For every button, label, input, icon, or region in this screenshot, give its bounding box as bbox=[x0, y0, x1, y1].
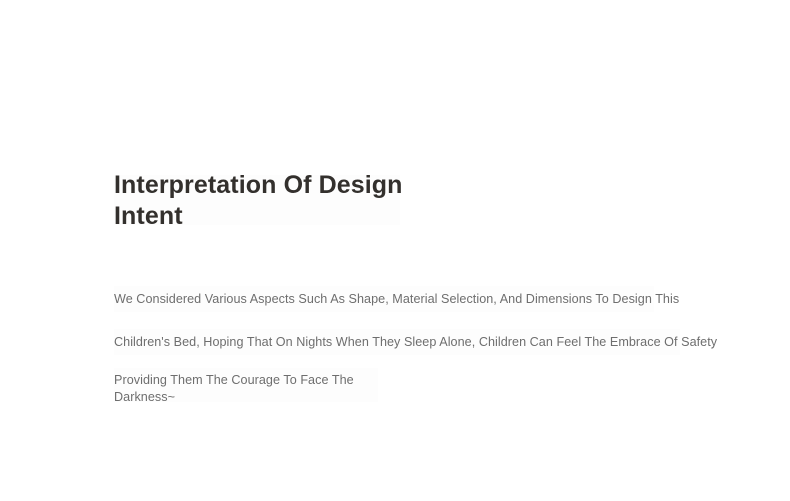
body-paragraph-2: Children's Bed, Hoping That On Nights Wh… bbox=[114, 334, 734, 351]
slide-canvas: Interpretation Of Design Intent We Consi… bbox=[0, 0, 790, 501]
page-title: Interpretation Of Design Intent bbox=[114, 170, 444, 232]
body-paragraph-1: We Considered Various Aspects Such As Sh… bbox=[114, 291, 714, 308]
body-paragraph-3: Providing Them The Courage To Face The D… bbox=[114, 372, 364, 406]
